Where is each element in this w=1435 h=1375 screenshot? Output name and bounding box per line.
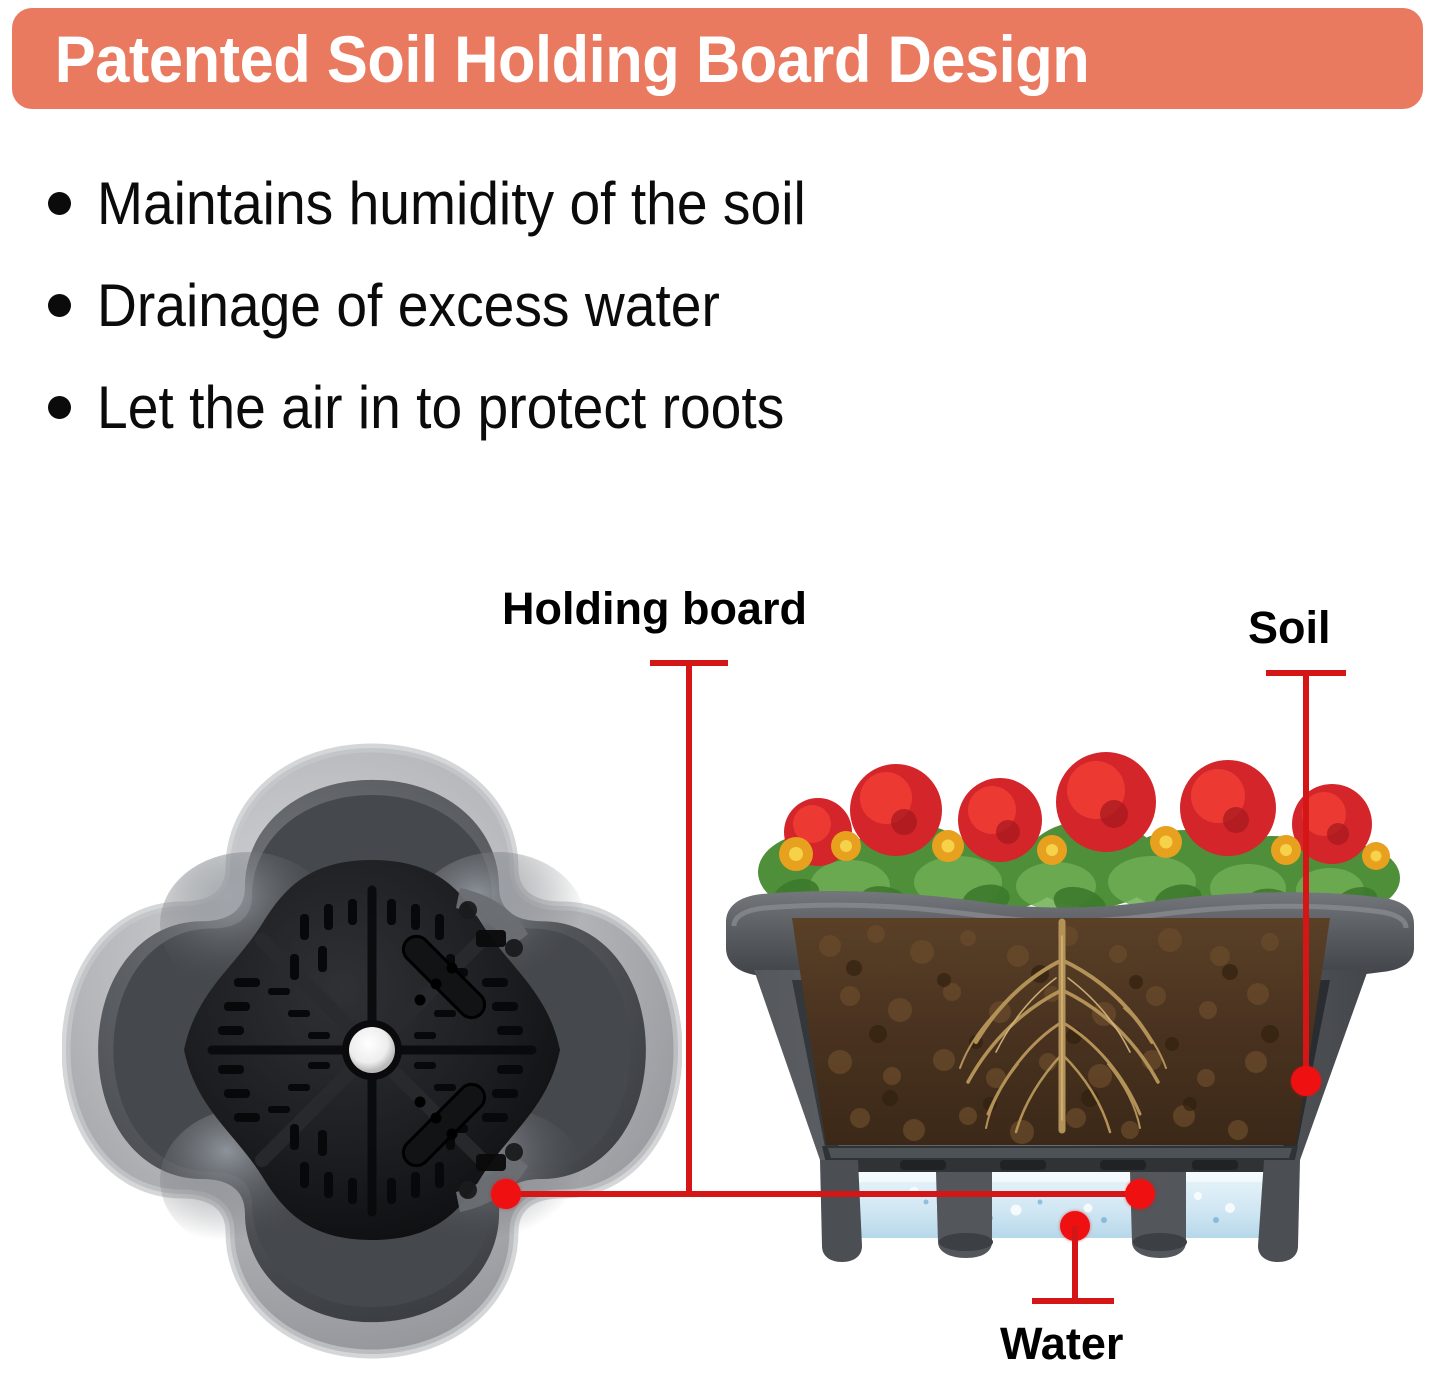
planter-cross-section-image xyxy=(700,690,1422,1310)
feature-list: Maintains humidity of the soil Drainage … xyxy=(48,152,1098,458)
annotation-label-soil: Soil xyxy=(1248,602,1331,654)
planter-top-view-image xyxy=(62,742,682,1360)
list-item: Maintains humidity of the soil xyxy=(48,152,1098,254)
leader-dot-holding-board-left xyxy=(491,1179,521,1209)
list-item-label: Drainage of excess water xyxy=(97,271,720,340)
header-banner: Patented Soil Holding Board Design xyxy=(12,8,1423,109)
bullet-point-icon xyxy=(48,396,71,419)
bullet-point-icon xyxy=(48,192,71,215)
holding-board-shelf xyxy=(822,1146,1298,1172)
bullet-point-icon xyxy=(48,294,71,317)
list-item-label: Maintains humidity of the soil xyxy=(97,169,806,238)
leader-dot-soil xyxy=(1291,1066,1321,1096)
leader-soil-stem xyxy=(1303,670,1309,1081)
list-item: Let the air in to protect roots xyxy=(48,356,1098,458)
leader-water-stem xyxy=(1072,1226,1078,1304)
list-item-label: Let the air in to protect roots xyxy=(97,373,784,442)
page-title: Patented Soil Holding Board Design xyxy=(12,21,1089,97)
leader-dot-holding-board-right xyxy=(1125,1179,1155,1209)
annotation-label-holding-board: Holding board xyxy=(502,583,807,635)
annotation-label-water: Water xyxy=(1000,1318,1123,1370)
leader-water-tbar xyxy=(1032,1298,1114,1304)
leader-holding-board-connector xyxy=(504,1191,1140,1197)
list-item: Drainage of excess water xyxy=(48,254,1098,356)
leader-holding-board-stem xyxy=(686,660,692,1194)
soil-layer xyxy=(780,910,1340,1160)
